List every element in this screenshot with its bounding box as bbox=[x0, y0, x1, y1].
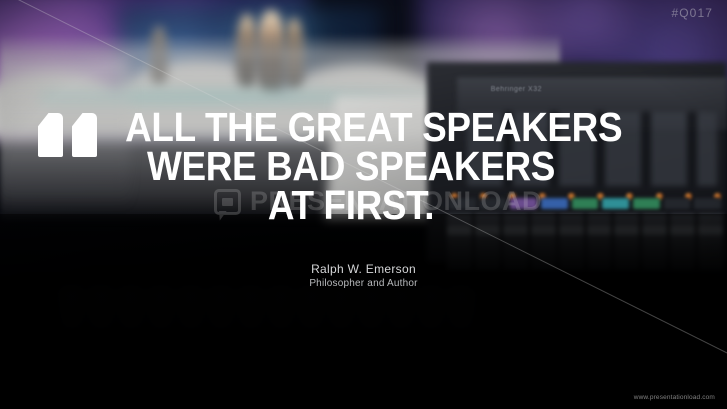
author-name: Ralph W. Emerson bbox=[0, 262, 727, 277]
quote-mark-stroke bbox=[38, 113, 63, 157]
slide-id-label: #Q017 bbox=[671, 6, 713, 20]
footer-url: www.presentationload.com bbox=[634, 394, 715, 401]
quote-line-2: WERE BAD SPEAKERS bbox=[125, 147, 577, 186]
quote-line-3: AT FIRST. bbox=[125, 186, 577, 225]
quote-attribution: Ralph W. Emerson Philosopher and Author bbox=[0, 262, 727, 291]
quote-slide: Behringer X32 bbox=[0, 0, 727, 409]
left-double-quotation-mark-icon bbox=[38, 113, 100, 159]
quote-line-1: ALL THE GREAT SPEAKERS bbox=[125, 108, 577, 147]
quote-mark-stroke bbox=[72, 113, 97, 157]
quote-text: ALL THE GREAT SPEAKERS WERE BAD SPEAKERS… bbox=[125, 108, 577, 225]
author-role: Philosopher and Author bbox=[0, 277, 727, 291]
